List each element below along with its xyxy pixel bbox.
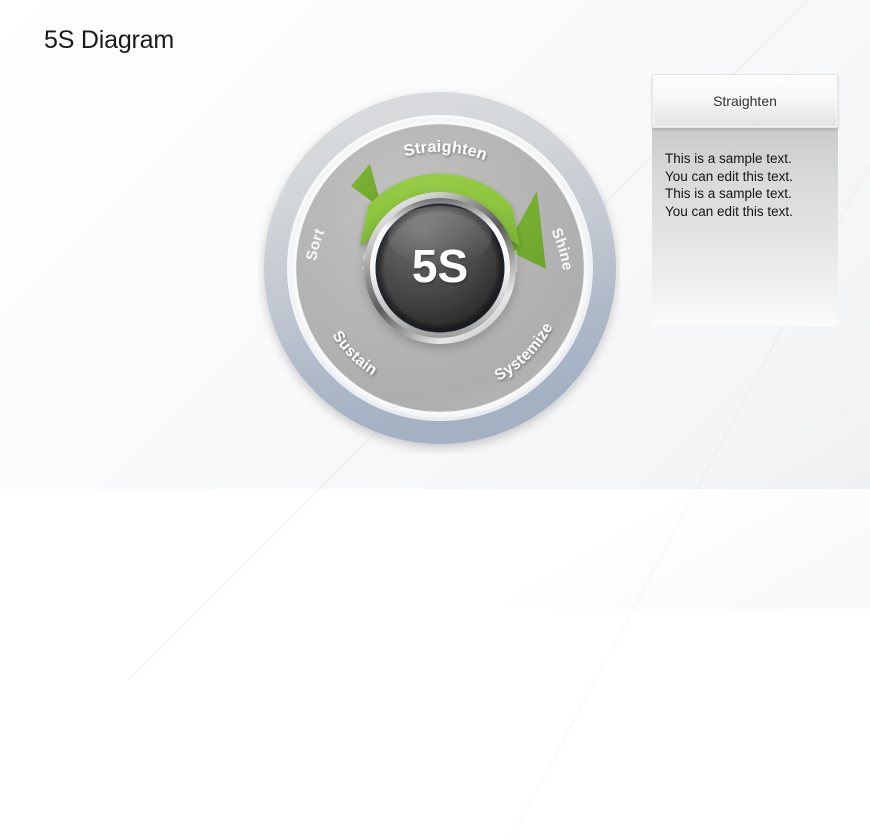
detail-panel-body: This is a sample text. You can edit this… bbox=[652, 126, 838, 326]
detail-panel-body-text[interactable]: This is a sample text. You can edit this… bbox=[665, 150, 830, 220]
detail-panel: This is a sample text. You can edit this… bbox=[652, 74, 838, 326]
page-title: 5S Diagram bbox=[44, 28, 174, 53]
detail-panel-header[interactable]: Straighten bbox=[652, 74, 838, 128]
detail-panel-header-label: Straighten bbox=[713, 93, 777, 109]
five-s-diagram[interactable]: Insert your own text here Straighten Sor… bbox=[258, 86, 620, 454]
center-label: 5S bbox=[412, 240, 468, 292]
